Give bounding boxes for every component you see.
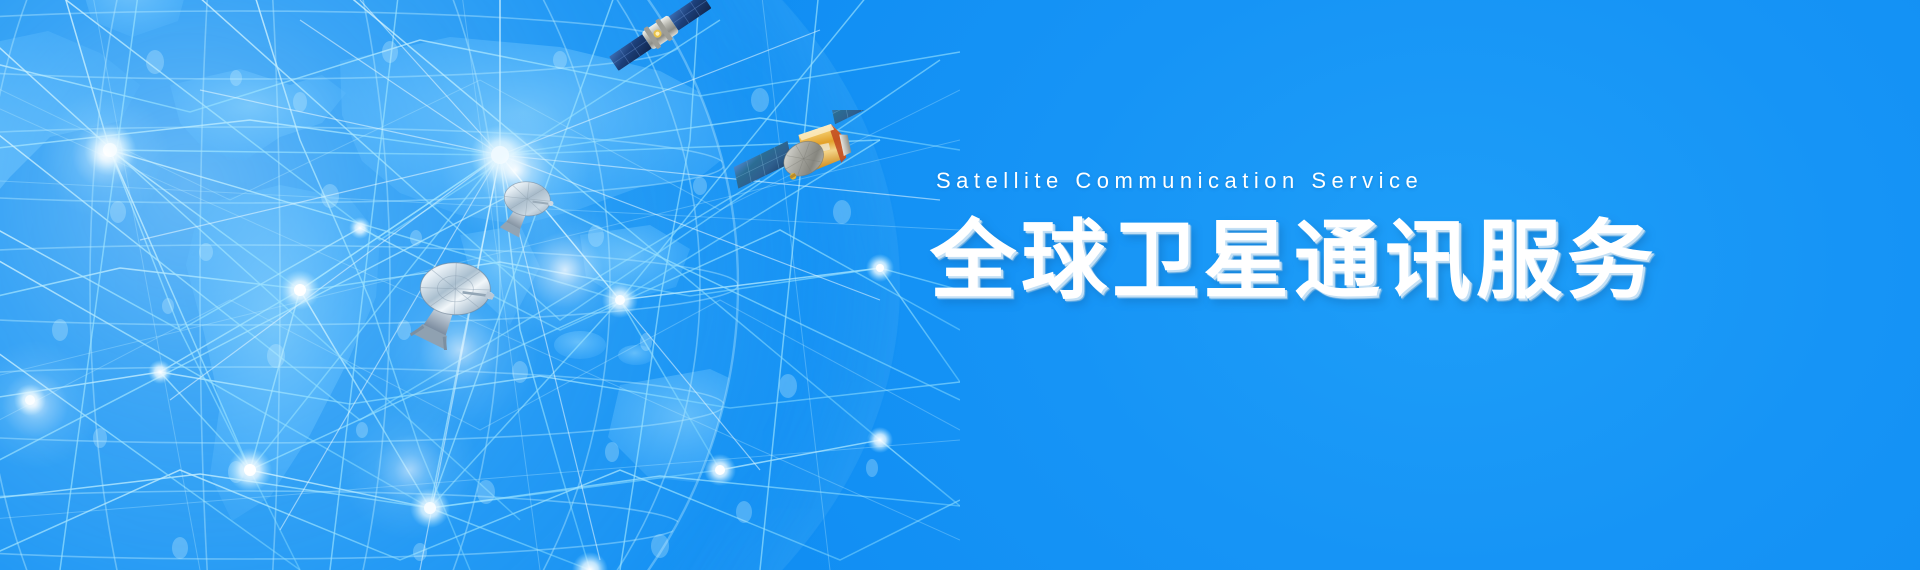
- subtitle-text: Satellite Communication Service: [936, 168, 1860, 194]
- satellite-service-banner: Satellite Communication Service 全球卫星通讯服务: [0, 0, 1920, 570]
- satellite-large: [725, 110, 905, 200]
- satellite-small: [600, 0, 720, 72]
- dish-lower: [400, 250, 502, 350]
- dish-upper: [490, 172, 558, 238]
- headline-text: 全球卫星通讯服务: [930, 216, 1860, 307]
- headline-block: Satellite Communication Service 全球卫星通讯服务: [930, 168, 1860, 307]
